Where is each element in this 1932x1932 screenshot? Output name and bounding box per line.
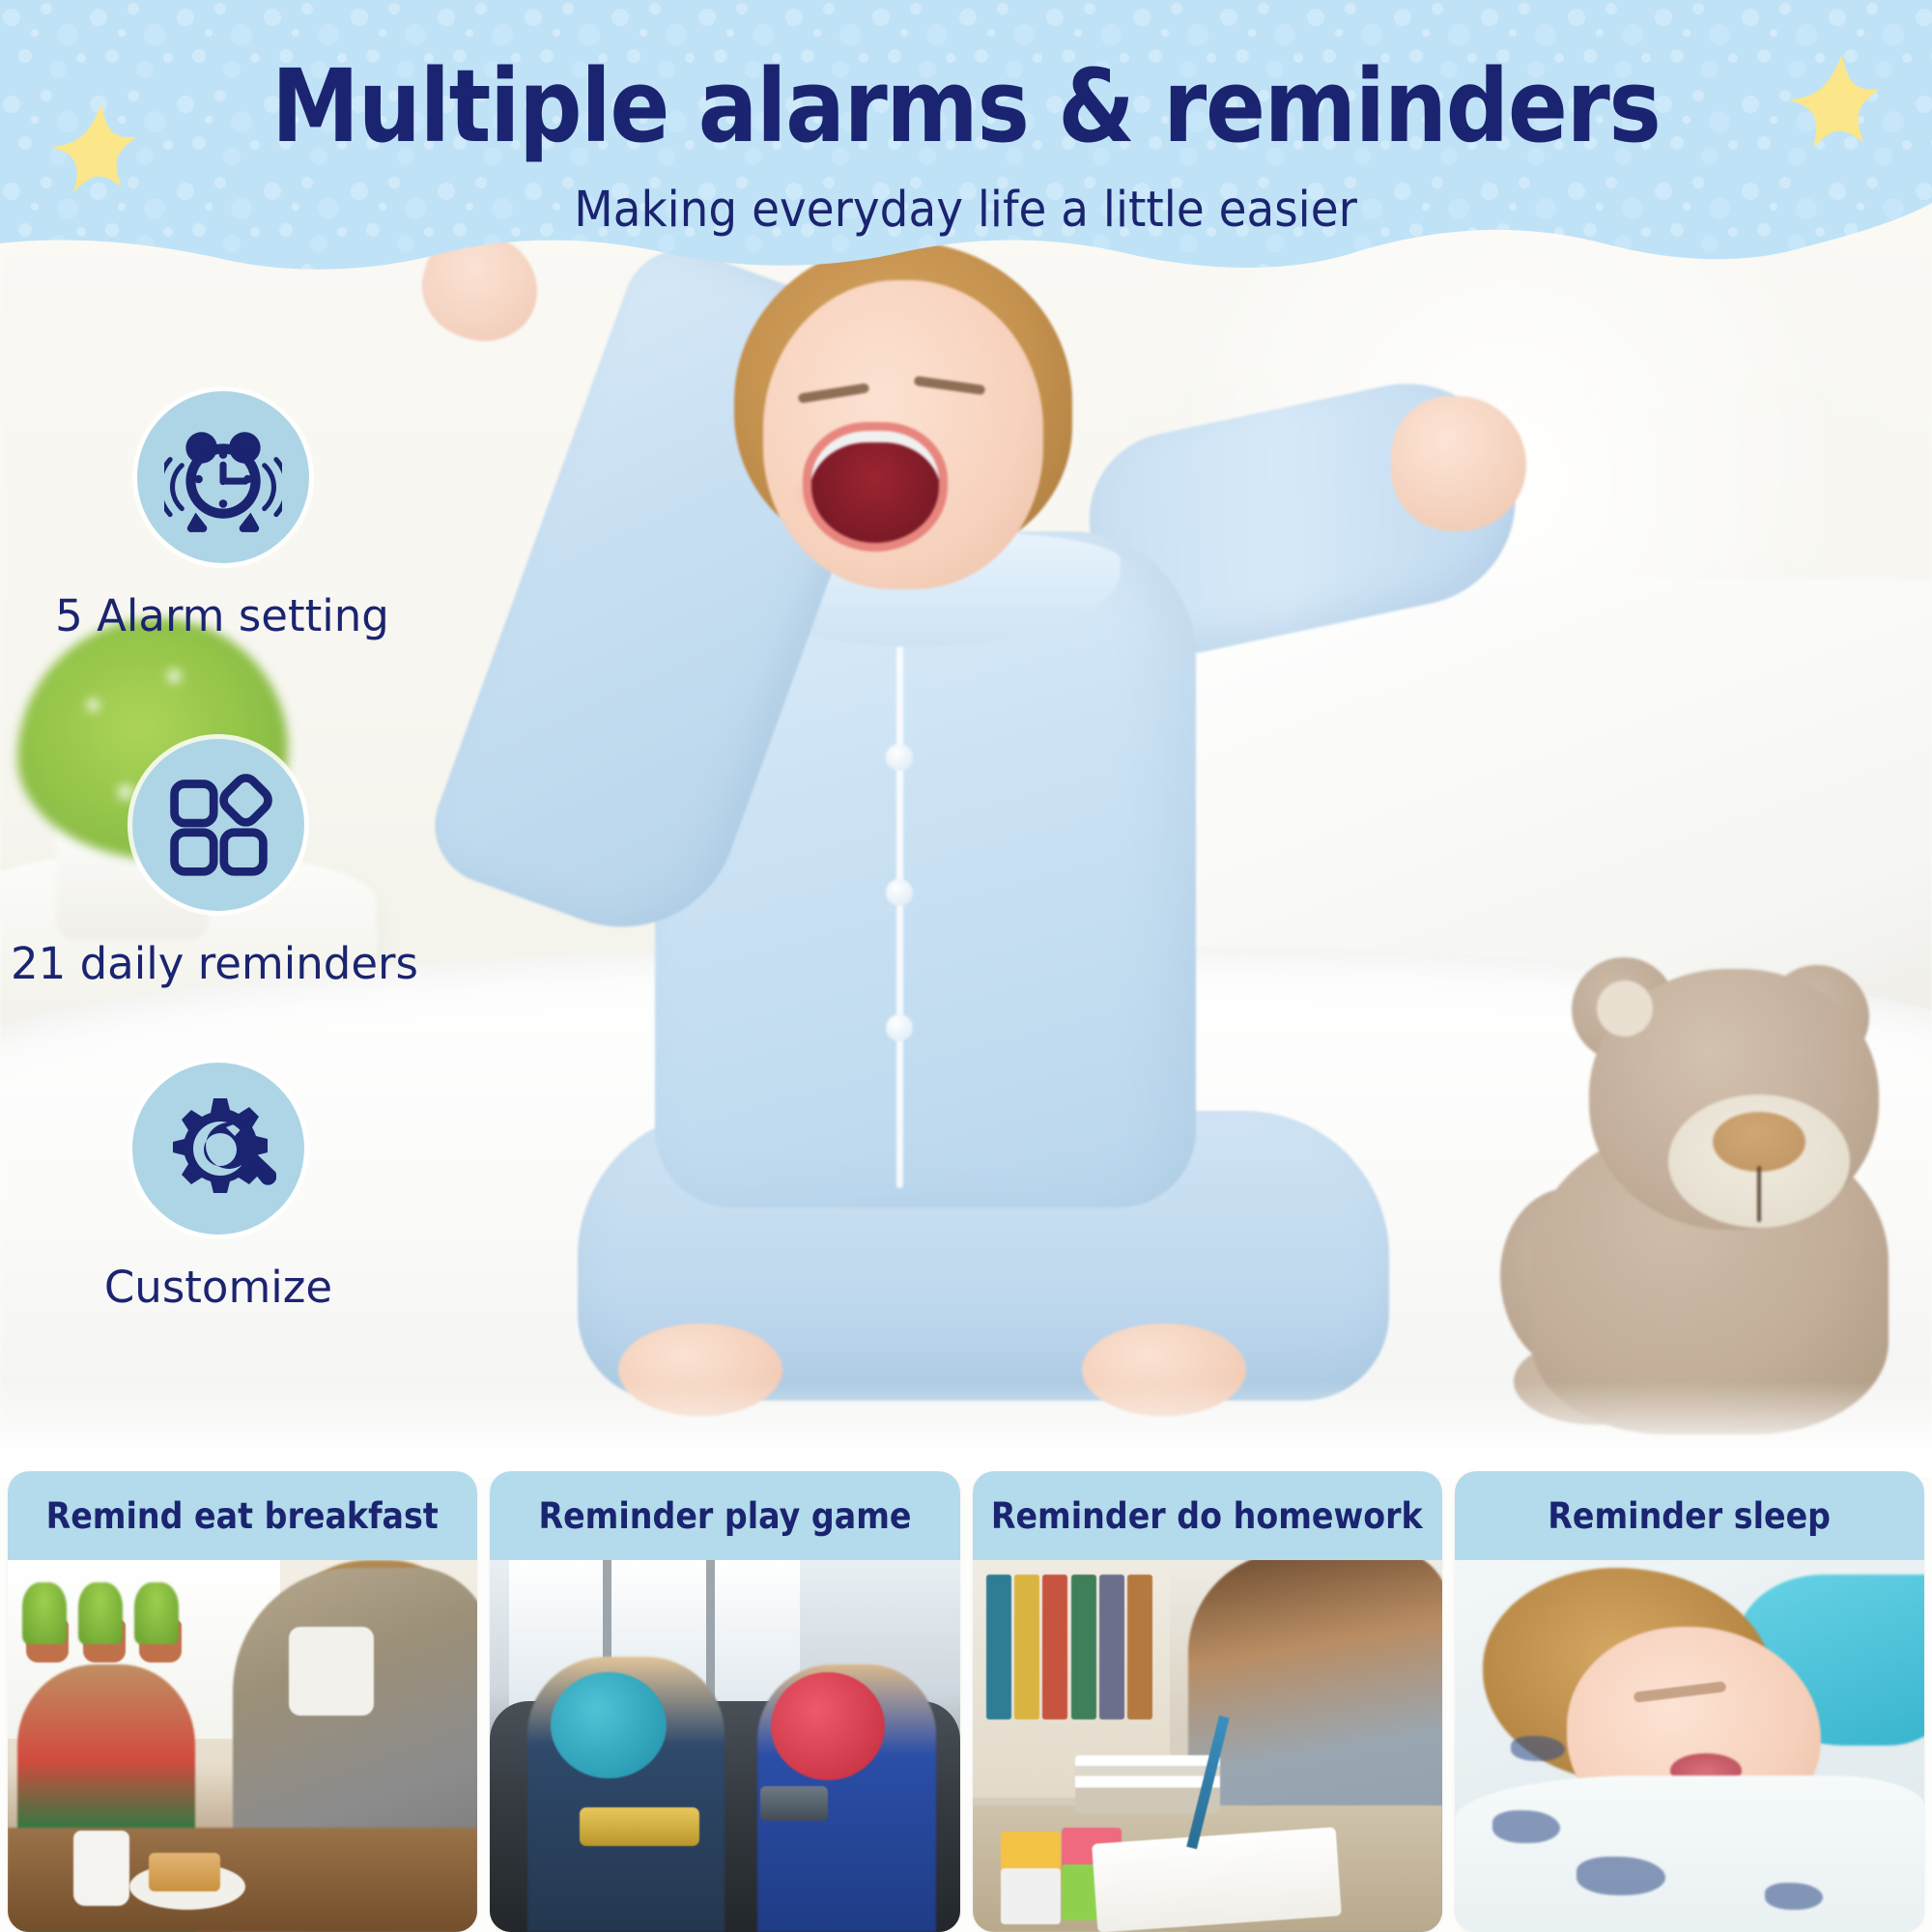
panel-header: Reminder do homework: [973, 1471, 1442, 1560]
panel-photo-play-game: [490, 1560, 959, 1932]
panel-header: Reminder play game: [490, 1471, 959, 1560]
panel-photo-sleep: [1455, 1560, 1924, 1932]
sheet-motif: [1492, 1810, 1560, 1843]
four-shapes-icon: [162, 769, 274, 881]
feature-label: Customize: [104, 1262, 332, 1313]
child-pajama-button: [886, 879, 913, 906]
book: [1014, 1575, 1039, 1719]
book: [1099, 1575, 1124, 1719]
header-cloud-shape: [0, 0, 1932, 309]
childs-cup: [73, 1831, 129, 1906]
panel-header: Remind eat breakfast: [8, 1471, 477, 1560]
sheet-motif: [1765, 1883, 1823, 1910]
red-headphones: [771, 1672, 885, 1780]
herb-plant: [134, 1582, 179, 1644]
coffee-mug: [289, 1627, 374, 1716]
child-pajama-button: [886, 1014, 913, 1041]
herb-plant: [22, 1582, 67, 1644]
book: [1071, 1575, 1096, 1719]
teddy-bear: [1492, 952, 1918, 1415]
feature-icon-circle: [137, 391, 309, 563]
header-banner: Multiple alarms & reminders Making every…: [0, 0, 1932, 309]
sheet-motif: [1511, 1736, 1565, 1761]
child-pajama-button: [886, 744, 913, 771]
book: [1042, 1575, 1067, 1719]
panel-label: Remind eat breakfast: [46, 1495, 439, 1537]
panel-photo-homework: [973, 1560, 1442, 1932]
toast: [149, 1853, 220, 1891]
feature-label: 5 Alarm setting: [55, 590, 389, 641]
blue-headphones: [551, 1672, 667, 1778]
reminder-panel[interactable]: Reminder sleep: [1455, 1471, 1924, 1932]
reminder-panel[interactable]: Reminder play game: [490, 1471, 959, 1932]
child-hand-right: [1391, 396, 1526, 531]
book: [986, 1575, 1011, 1719]
alarm-clock-icon: [164, 418, 282, 536]
gear-wrench-icon: [160, 1091, 276, 1207]
child-yawning-mouth: [811, 431, 939, 543]
handheld-console: [760, 1786, 828, 1821]
teddy-ear-inner: [1597, 980, 1653, 1037]
feature-icon-circle: [132, 739, 304, 911]
reminder-panel[interactable]: Reminder do homework: [973, 1471, 1442, 1932]
star-left-icon: [39, 97, 164, 222]
feature-item-customize: Customize: [0, 1063, 415, 1313]
infographic-page: Multiple alarms & reminders Making every…: [0, 0, 1932, 1932]
book: [1127, 1575, 1152, 1719]
panel-header: Reminder sleep: [1455, 1471, 1924, 1560]
bed-sheet: [1455, 1776, 1924, 1932]
panel-label: Reminder play game: [538, 1495, 911, 1537]
sticky-note: [1001, 1868, 1061, 1924]
hero-bottom-fade: [0, 1381, 1932, 1478]
herb-plant: [78, 1582, 123, 1644]
panel-photo-breakfast: [8, 1560, 477, 1932]
reminder-panel-row: Remind eat breakfast: [0, 1471, 1932, 1932]
feature-item-alarm-setting: 5 Alarm setting: [0, 391, 415, 641]
teddy-nose-line: [1757, 1166, 1761, 1222]
reminder-panel[interactable]: Remind eat breakfast: [8, 1471, 477, 1932]
notebook: [1092, 1827, 1342, 1932]
child-figure: [415, 241, 1536, 1410]
panel-label: Reminder sleep: [1548, 1495, 1832, 1537]
feature-icon-circle: [132, 1063, 304, 1235]
panel-label: Reminder do homework: [991, 1495, 1423, 1537]
star-right-icon: [1776, 46, 1909, 180]
feature-item-daily-reminders: 21 daily reminders: [0, 739, 415, 989]
feature-label: 21 daily reminders: [11, 938, 418, 989]
handheld-console: [580, 1807, 699, 1846]
teddy-nose: [1713, 1112, 1805, 1172]
